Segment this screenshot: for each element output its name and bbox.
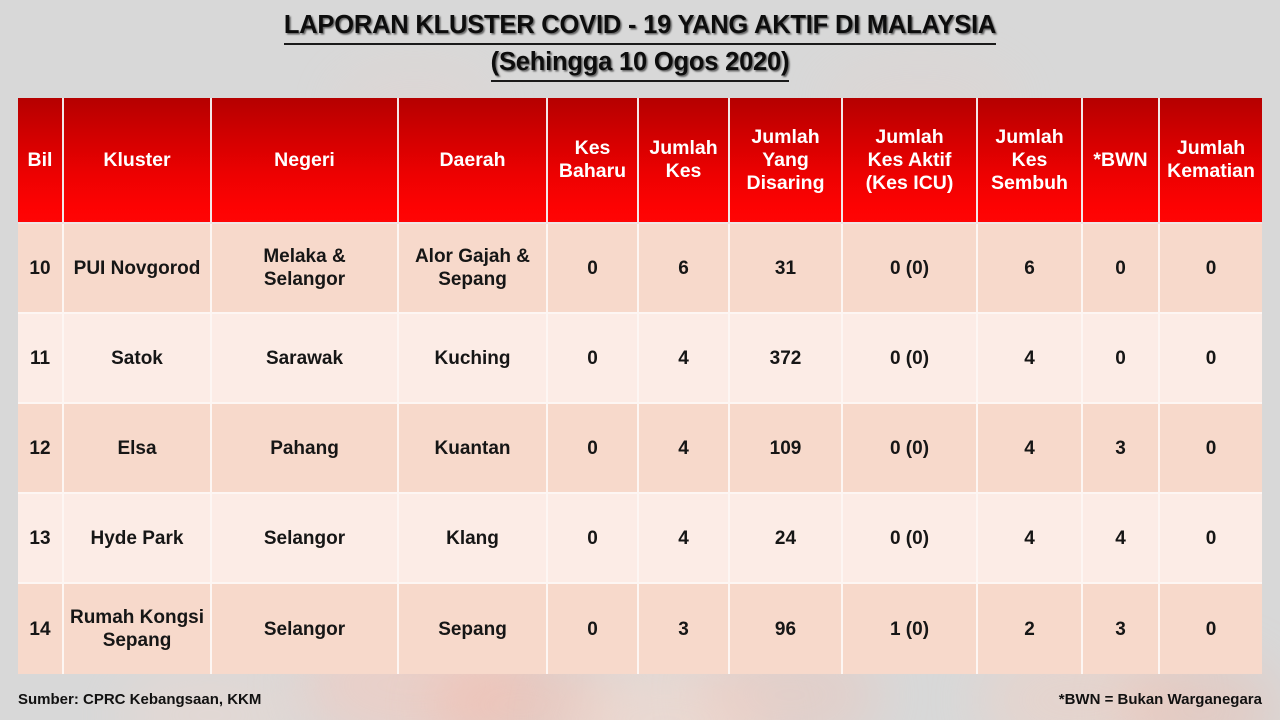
cell-baharu: 0: [548, 314, 639, 404]
cell-daerah: Alor Gajah &Sepang: [399, 224, 548, 314]
slide-footer: Sumber: CPRC Kebangsaan, KKM *BWN = Buka…: [0, 682, 1280, 708]
cell-kematian: 0: [1160, 494, 1262, 584]
cell-aktif: 0 (0): [843, 404, 978, 494]
cell-negeri: Selangor: [212, 584, 399, 674]
cell-sembuh: 4: [978, 494, 1083, 584]
cell-bil: 13: [18, 494, 64, 584]
footer-source: Sumber: CPRC Kebangsaan, KKM: [18, 691, 261, 708]
cell-disaring: 372: [730, 314, 843, 404]
cell-daerah: Kuching: [399, 314, 548, 404]
column-header-kluster[interactable]: Kluster: [64, 98, 212, 224]
cell-jumlah: 4: [639, 404, 730, 494]
cell-daerah: Kuantan: [399, 404, 548, 494]
cell-negeri: Selangor: [212, 494, 399, 584]
cell-kluster: Rumah KongsiSepang: [64, 584, 212, 674]
cell-jumlah: 6: [639, 224, 730, 314]
cell-jumlah: 3: [639, 584, 730, 674]
table-row: 11SatokSarawakKuching043720 (0)400: [18, 314, 1262, 404]
cell-aktif: 0 (0): [843, 494, 978, 584]
cell-daerah: Sepang: [399, 584, 548, 674]
cell-disaring: 24: [730, 494, 843, 584]
column-header-sembuh[interactable]: JumlahKesSembuh: [978, 98, 1083, 224]
cell-bwn: 0: [1083, 314, 1160, 404]
table-row: 12ElsaPahangKuantan041090 (0)430: [18, 404, 1262, 494]
cell-baharu: 0: [548, 584, 639, 674]
column-header-negeri[interactable]: Negeri: [212, 98, 399, 224]
column-header-aktif[interactable]: JumlahKes Aktif(Kes ICU): [843, 98, 978, 224]
cell-baharu: 0: [548, 494, 639, 584]
cell-jumlah: 4: [639, 314, 730, 404]
slide-title: LAPORAN KLUSTER COVID - 19 YANG AKTIF DI…: [0, 8, 1280, 82]
cell-kematian: 0: [1160, 314, 1262, 404]
table-header-row: BilKlusterNegeriDaerahKesBaharuJumlahKes…: [18, 98, 1262, 224]
cell-kematian: 0: [1160, 224, 1262, 314]
cell-aktif: 0 (0): [843, 224, 978, 314]
cell-aktif: 1 (0): [843, 584, 978, 674]
cell-disaring: 96: [730, 584, 843, 674]
cell-negeri: Pahang: [212, 404, 399, 494]
cell-bil: 12: [18, 404, 64, 494]
cell-bil: 10: [18, 224, 64, 314]
cell-bil: 11: [18, 314, 64, 404]
cell-sembuh: 2: [978, 584, 1083, 674]
cell-negeri: Melaka &Selangor: [212, 224, 399, 314]
title-line-subtitle: (Sehingga 10 Ogos 2020): [491, 45, 790, 82]
cell-kluster: Elsa: [64, 404, 212, 494]
cell-aktif: 0 (0): [843, 314, 978, 404]
table-row: 13Hyde ParkSelangorKlang04240 (0)440: [18, 494, 1262, 584]
cell-daerah: Klang: [399, 494, 548, 584]
column-header-daerah[interactable]: Daerah: [399, 98, 548, 224]
cluster-table-container: BilKlusterNegeriDaerahKesBaharuJumlahKes…: [18, 98, 1262, 674]
column-header-bil[interactable]: Bil: [18, 98, 64, 224]
cell-baharu: 0: [548, 404, 639, 494]
cell-disaring: 31: [730, 224, 843, 314]
footer-legend: *BWN = Bukan Warganegara: [1059, 691, 1262, 708]
cell-kematian: 0: [1160, 584, 1262, 674]
cell-sembuh: 6: [978, 224, 1083, 314]
cell-bwn: 3: [1083, 404, 1160, 494]
cluster-table: BilKlusterNegeriDaerahKesBaharuJumlahKes…: [18, 98, 1262, 674]
column-header-jumlah[interactable]: JumlahKes: [639, 98, 730, 224]
title-line-primary: LAPORAN KLUSTER COVID - 19 YANG AKTIF DI…: [284, 8, 996, 45]
cell-sembuh: 4: [978, 314, 1083, 404]
table-body: 10PUI NovgorodMelaka &SelangorAlor Gajah…: [18, 224, 1262, 674]
cell-kematian: 0: [1160, 404, 1262, 494]
column-header-kematian[interactable]: JumlahKematian: [1160, 98, 1262, 224]
cell-jumlah: 4: [639, 494, 730, 584]
cell-kluster: Hyde Park: [64, 494, 212, 584]
cell-kluster: Satok: [64, 314, 212, 404]
cell-disaring: 109: [730, 404, 843, 494]
cell-bwn: 3: [1083, 584, 1160, 674]
cell-kluster: PUI Novgorod: [64, 224, 212, 314]
table-row: 14Rumah KongsiSepangSelangorSepang03961 …: [18, 584, 1262, 674]
column-header-bwn[interactable]: *BWN: [1083, 98, 1160, 224]
cell-bwn: 0: [1083, 224, 1160, 314]
table-row: 10PUI NovgorodMelaka &SelangorAlor Gajah…: [18, 224, 1262, 314]
table-header: BilKlusterNegeriDaerahKesBaharuJumlahKes…: [18, 98, 1262, 224]
column-header-baharu[interactable]: KesBaharu: [548, 98, 639, 224]
cell-negeri: Sarawak: [212, 314, 399, 404]
cell-baharu: 0: [548, 224, 639, 314]
cell-bil: 14: [18, 584, 64, 674]
column-header-disaring[interactable]: JumlahYangDisaring: [730, 98, 843, 224]
cell-bwn: 4: [1083, 494, 1160, 584]
cell-sembuh: 4: [978, 404, 1083, 494]
